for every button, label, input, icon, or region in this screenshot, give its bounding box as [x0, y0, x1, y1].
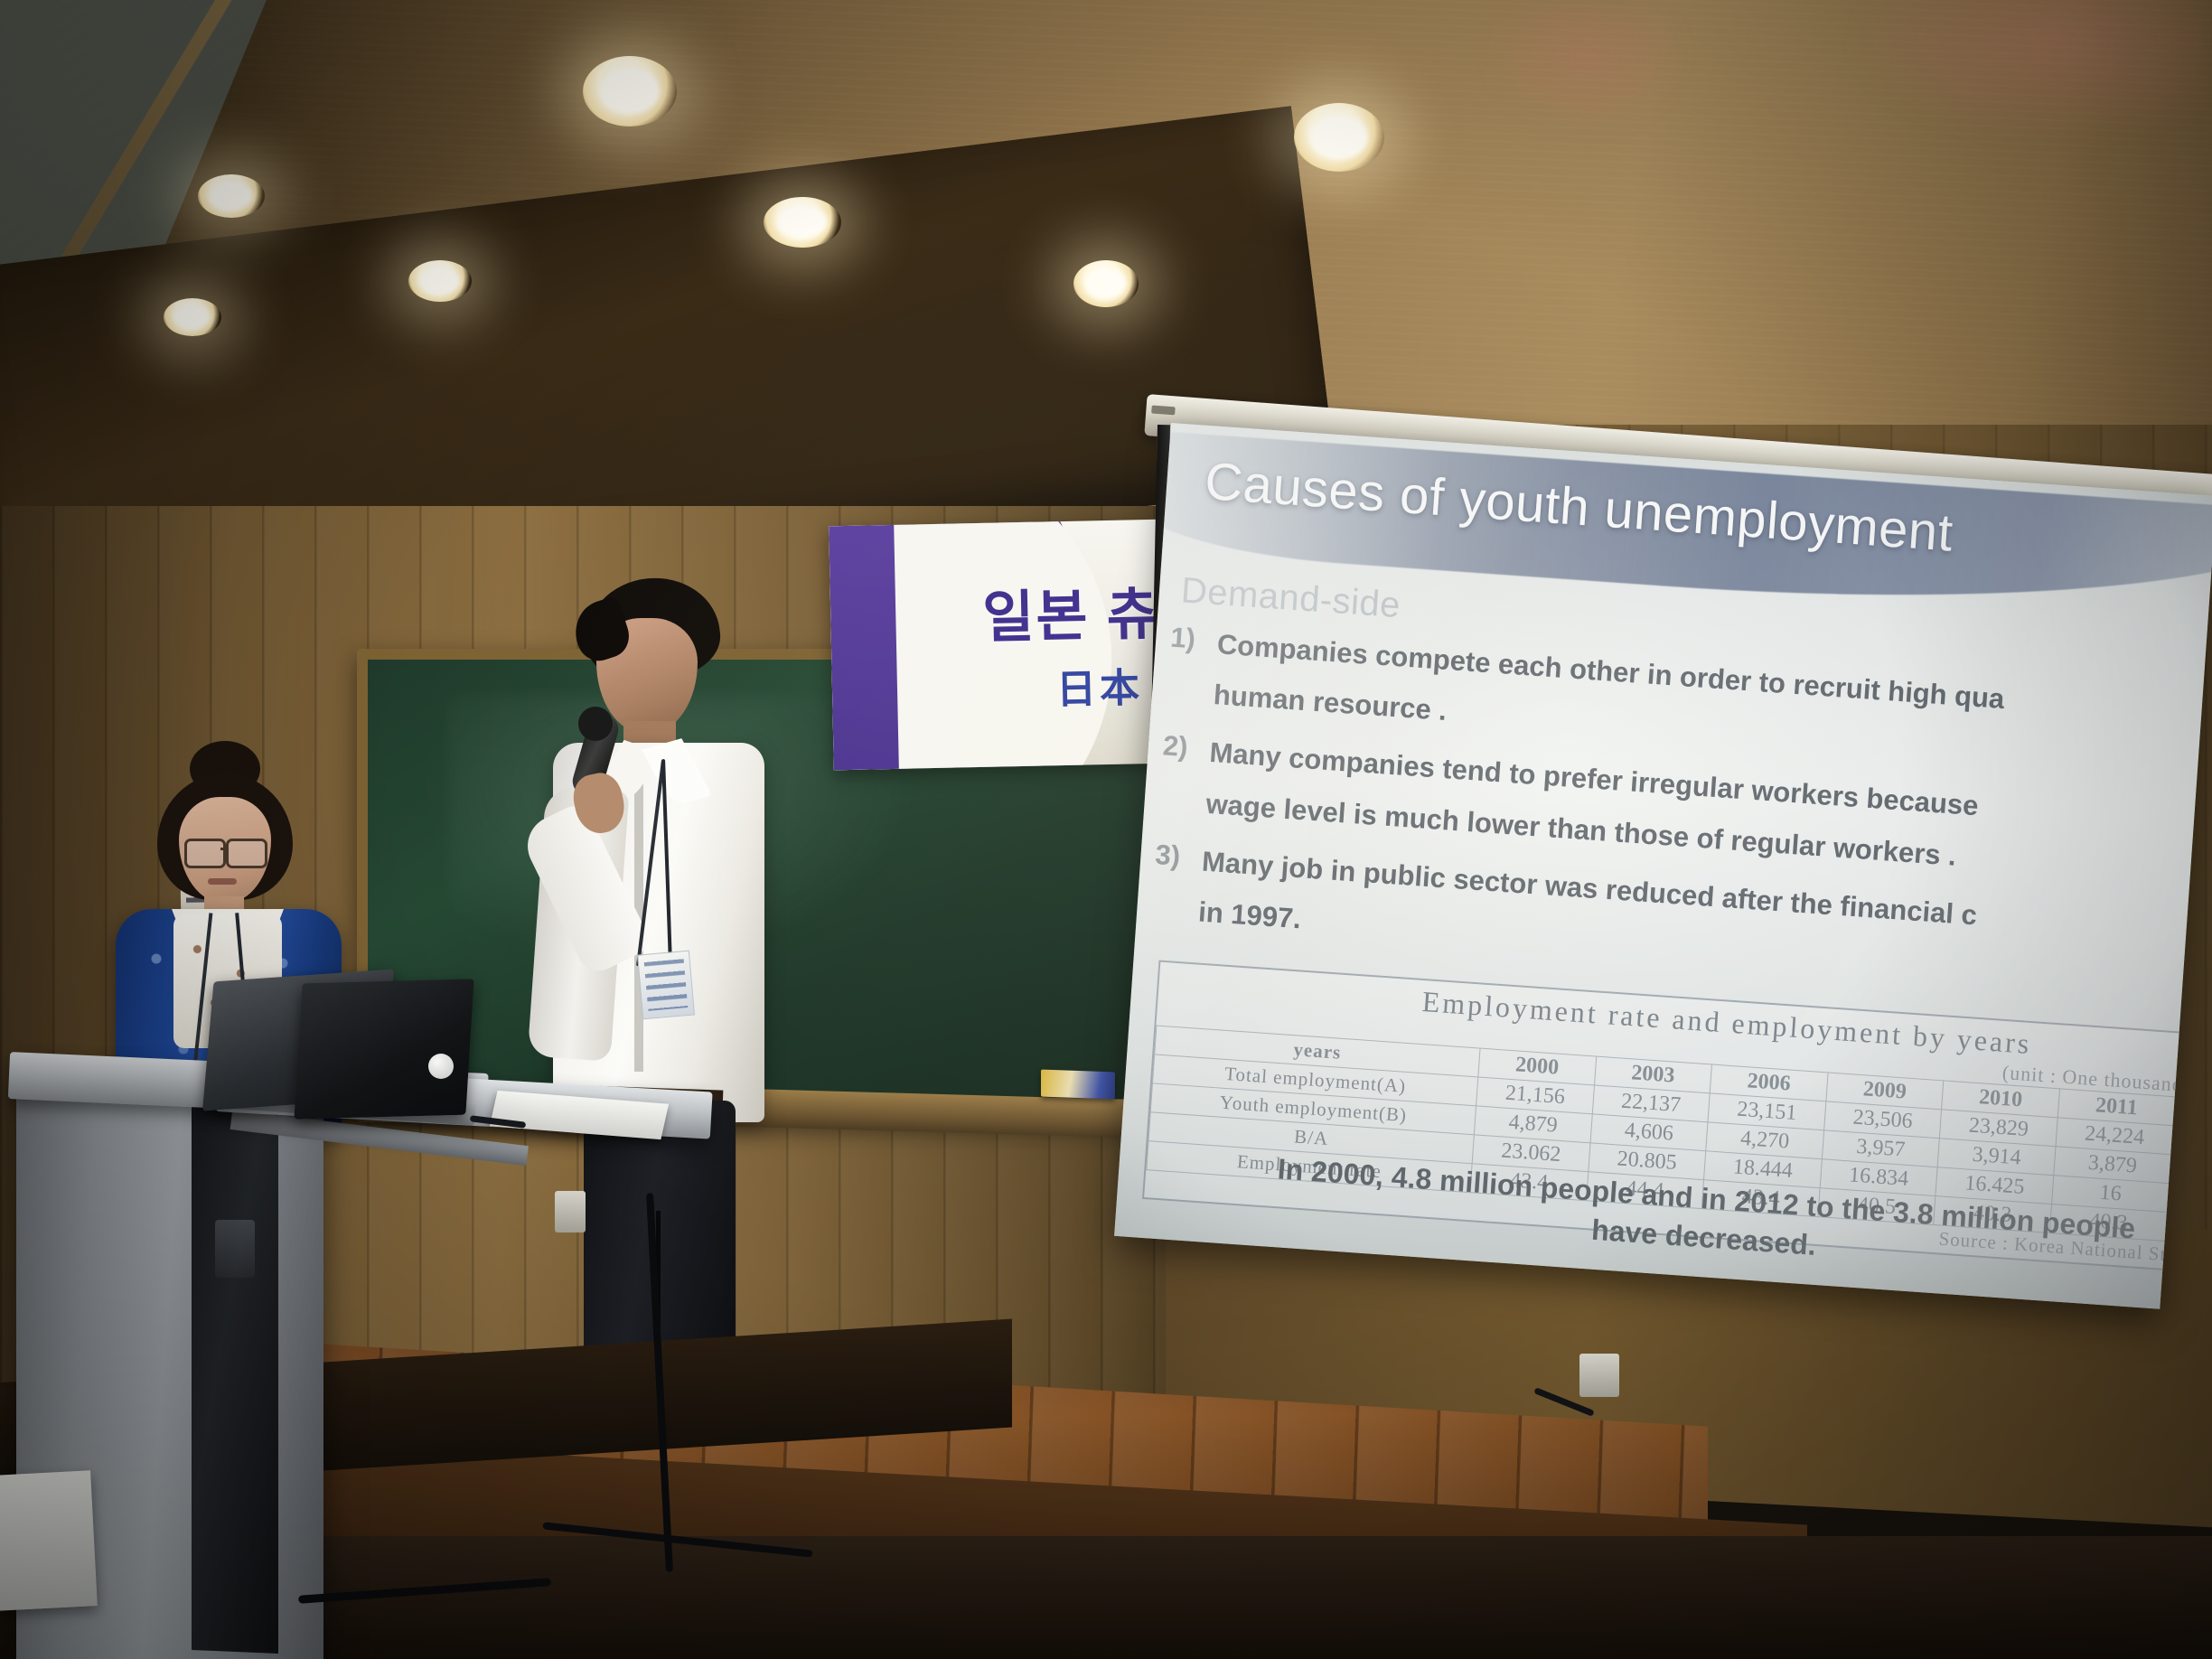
- presenter-man: [488, 578, 786, 1283]
- ceiling-light-5: [764, 197, 841, 248]
- chalk-box: [1041, 1070, 1115, 1100]
- lectern-emblem: [215, 1220, 255, 1278]
- box-foreground-left: [0, 1470, 98, 1611]
- projection-screen: Causes of youth unemployment Demand-side…: [1114, 423, 2212, 1309]
- slide-section-heading: Demand-side: [1180, 570, 1402, 626]
- bullet-number-1: 1): [1168, 619, 1218, 668]
- man-name-badge-lines: [644, 959, 689, 1011]
- laptop-screen-right[interactable]: [294, 979, 473, 1119]
- wall-power-outlet-right[interactable]: [1579, 1354, 1619, 1397]
- wall-power-outlet[interactable]: [555, 1191, 586, 1233]
- ceiling-light-6: [1073, 260, 1139, 307]
- bullet-number-2: 2): [1161, 727, 1211, 776]
- slide-bullet-list: 1) Companies compete each other in order…: [1150, 619, 2212, 1013]
- screen-housing-label: [1151, 405, 1176, 415]
- small-cup: [428, 1054, 454, 1079]
- man-name-badge: [637, 951, 695, 1020]
- eyeglasses-bridge: [220, 848, 228, 850]
- ceiling-light-3: [408, 260, 472, 302]
- ceiling-light-1: [198, 174, 265, 218]
- ceiling-light-7: [1294, 103, 1384, 172]
- photo-scene: 일본 츄오 日本 中 Causes of youth unemployment …: [0, 0, 2212, 1659]
- slide-content: Causes of youth unemployment Demand-side…: [1114, 423, 2212, 1309]
- ceiling-light-4: [583, 56, 677, 127]
- lectern-dark-panel: [192, 1099, 278, 1654]
- eyeglasses-right-lens: [226, 839, 267, 868]
- banner-purple-edge: [829, 525, 899, 770]
- bullet-number-3: 3): [1154, 836, 1204, 885]
- woman-mouth: [208, 878, 237, 885]
- ceiling-light-2: [164, 298, 221, 336]
- microphone-head: [578, 707, 613, 741]
- eyeglasses-left-lens: [184, 839, 226, 868]
